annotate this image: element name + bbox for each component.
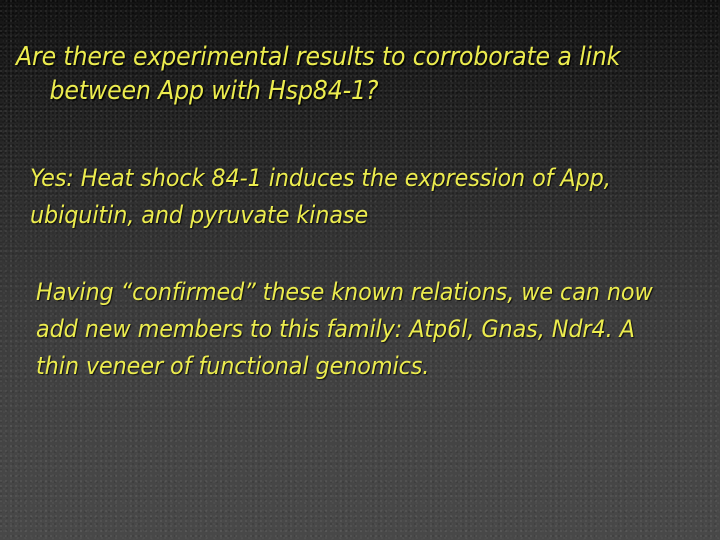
slide-body-paragraph-2: Having “confirmed” these known relations…	[36, 274, 659, 385]
presentation-slide: Are there experimental results to corrob…	[0, 0, 720, 540]
slide-body-paragraph-1: Yes: Heat shock 84-1 induces the express…	[30, 160, 662, 234]
slide-title: Are there experimental results to corrob…	[16, 40, 674, 108]
slide-text-layer: Are there experimental results to corrob…	[0, 0, 720, 540]
